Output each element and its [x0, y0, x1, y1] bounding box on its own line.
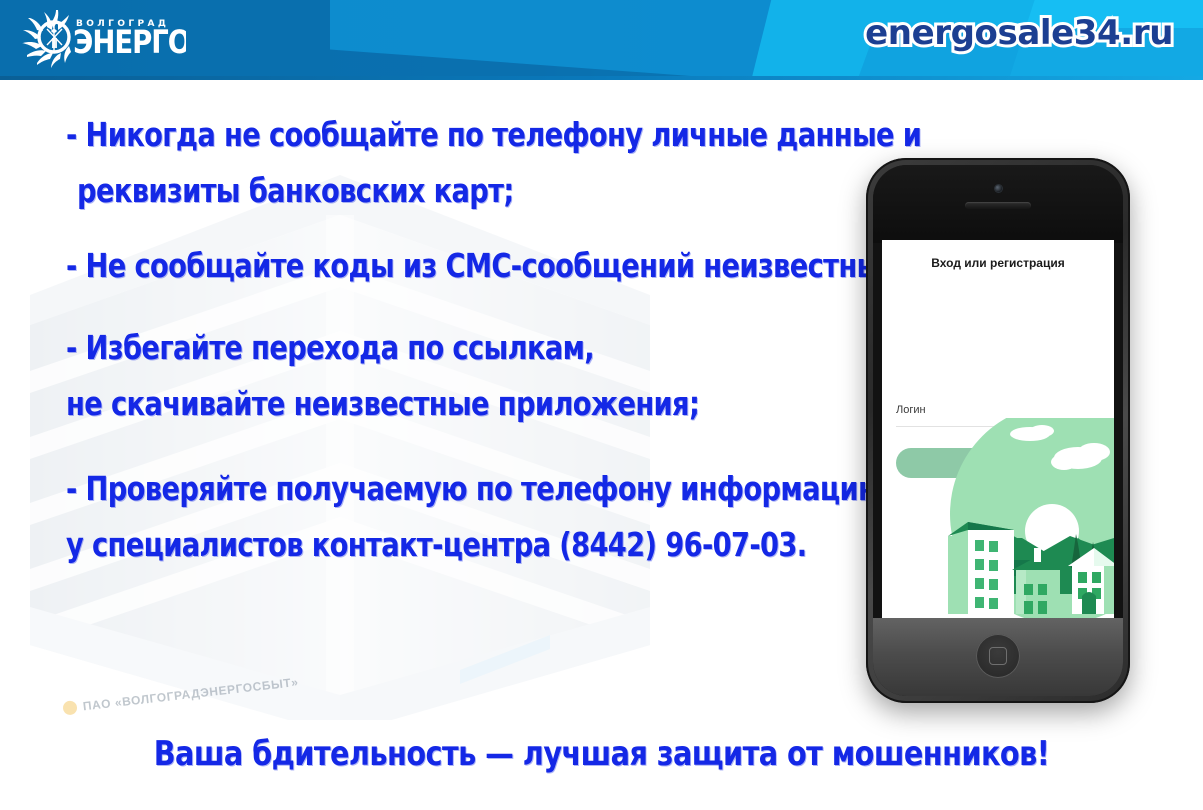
green-cityscape-illustration	[882, 418, 1114, 618]
sign-sun-icon	[62, 700, 77, 715]
sun-burst-logo-icon	[22, 10, 71, 68]
advice-block-1: - Никогда не сообщайте по телефону личны…	[66, 118, 876, 207]
advice-line-phone: у специалистов контакт-центра (8442) 96-…	[66, 528, 811, 562]
advice-line: реквизиты банковских карт;	[66, 174, 811, 208]
company-logo[interactable]: ВОЛГОГРАД ЭНЕРГОСБЫТ ВОЛГОГРАД ЭНЕРГОСБЫ…	[14, 6, 186, 68]
login-screen-title: Вход или регистрация	[892, 256, 1104, 270]
earpiece-speaker-icon	[965, 202, 1031, 209]
phone-bottom-bezel	[873, 618, 1123, 696]
phone-screen: Вход или регистрация Логин Далее	[882, 240, 1114, 618]
advice-line: - Проверяйте получаемую по телефону инфо…	[66, 472, 811, 506]
svg-text:ЭНЕРГОСБЫТ: ЭНЕРГОСБЫТ	[73, 24, 186, 61]
advice-list: - Никогда не сообщайте по телефону личны…	[66, 118, 876, 592]
advice-line: - Не сообщайте коды из СМС-сообщений неи…	[66, 249, 811, 283]
advice-line: - Избегайте перехода по ссылкам,	[66, 331, 811, 365]
site-url-text[interactable]: energosale34.ru	[865, 13, 1173, 53]
advice-block-3: - Избегайте перехода по ссылкам, не скач…	[66, 331, 876, 420]
advice-line: не скачивайте неизвестные приложения;	[66, 387, 811, 421]
advice-block-4: - Проверяйте получаемую по телефону инфо…	[66, 472, 876, 561]
poster-root: ВОЛГОГРАД ЭНЕРГОСБЫТ ВОЛГОГРАД ЭНЕРГОСБЫ…	[0, 0, 1203, 810]
header-bottom-rule	[0, 76, 1203, 80]
advice-block-2: - Не сообщайте коды из СМС-сообщений неи…	[66, 249, 876, 283]
smartphone-mockup: Вход или регистрация Логин Далее	[866, 158, 1130, 703]
login-input-placeholder: Логин	[896, 404, 1100, 416]
front-camera-icon	[995, 185, 1002, 192]
home-button[interactable]	[976, 634, 1020, 678]
advice-line: - Никогда не сообщайте по телефону личны…	[66, 118, 811, 152]
sign-label: ПАО «ВОЛГОГРАДЭНЕРГОСБЫТ»	[82, 675, 299, 713]
home-square-icon	[989, 647, 1007, 665]
building-sign-text: ПАО «ВОЛГОГРАДЭНЕРГОСБЫТ»	[62, 658, 393, 720]
tagline-text: Ваша бдительность — лучшая защита от мош…	[36, 734, 1167, 774]
site-header: ВОЛГОГРАД ЭНЕРГОСБЫТ ВОЛГОГРАД ЭНЕРГОСБЫ…	[0, 0, 1203, 80]
